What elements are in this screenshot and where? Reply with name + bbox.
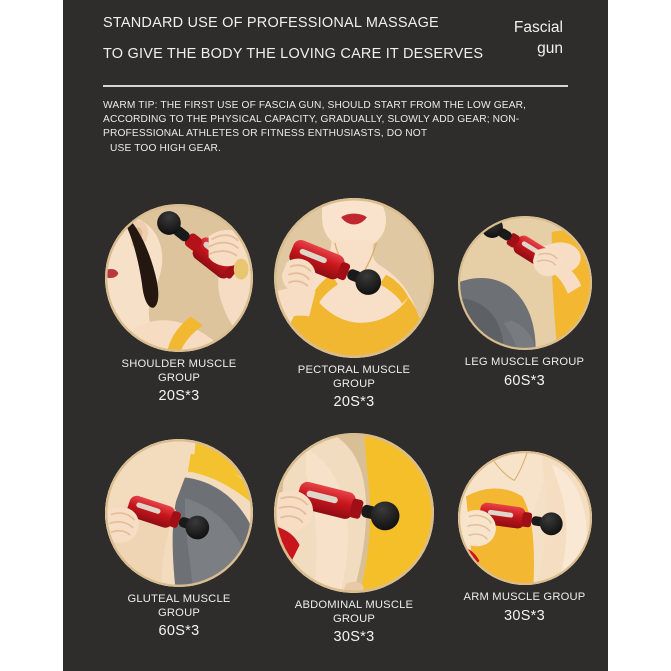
muscle-group-duration: 60S*3 bbox=[447, 372, 602, 390]
muscle-group-name-2: GROUP bbox=[91, 372, 267, 386]
warm-tip-line-1: WARM TIP: THE FIRST USE OF FASCIA GUN, S… bbox=[103, 99, 563, 113]
warm-tip-line-2: ACCORDING TO THE PHYSICAL CAPACITY, GRAD… bbox=[103, 113, 563, 127]
muscle-group-duration: 30S*3 bbox=[447, 607, 602, 625]
shoulder-massage-photo bbox=[105, 204, 253, 352]
page-title: STANDARD USE OF PROFESSIONAL MASSAGE TO … bbox=[103, 8, 503, 70]
muscle-group-caption: ARM MUSCLE GROUP bbox=[447, 591, 602, 605]
leg-massage-photo bbox=[458, 216, 592, 350]
pectoral-massage-photo bbox=[274, 198, 434, 358]
product-infographic-poster: STANDARD USE OF PROFESSIONAL MASSAGE TO … bbox=[63, 0, 608, 671]
arm-massage-illustration bbox=[458, 451, 592, 585]
muscle-group-name: SHOULDER MUSCLE bbox=[91, 358, 267, 372]
muscle-group-name: GLUTEAL MUSCLE bbox=[91, 593, 267, 607]
brand-line-2: gun bbox=[495, 38, 563, 59]
muscle-group-caption: SHOULDER MUSCLE GROUP bbox=[91, 358, 267, 385]
warm-tip-line-3: PROFESSIONAL ATHLETES OR FITNESS ENTHUSI… bbox=[103, 127, 563, 141]
muscle-group-card-abdominal[interactable]: ABDOMINAL MUSCLE GROUP 30S*3 bbox=[259, 433, 449, 646]
muscle-group-caption: ABDOMINAL MUSCLE GROUP bbox=[259, 599, 449, 626]
muscle-group-name-2: GROUP bbox=[259, 613, 449, 627]
header-divider bbox=[103, 85, 568, 87]
muscle-group-grid: SHOULDER MUSCLE GROUP 20S*3 bbox=[63, 198, 608, 668]
shoulder-massage-illustration bbox=[105, 204, 253, 352]
gluteal-massage-photo bbox=[105, 439, 253, 587]
brand-label: Fascial gun bbox=[495, 17, 603, 59]
muscle-group-card-pectoral[interactable]: PECTORAL MUSCLE GROUP 20S*3 bbox=[259, 198, 449, 411]
abdominal-massage-photo bbox=[274, 433, 434, 593]
muscle-group-duration: 60S*3 bbox=[91, 622, 267, 640]
muscle-group-duration: 20S*3 bbox=[259, 393, 449, 411]
warm-tip-line-4: USE TOO HIGH GEAR. bbox=[103, 142, 563, 156]
muscle-group-name-2: GROUP bbox=[91, 607, 267, 621]
muscle-group-caption: LEG MUSCLE GROUP bbox=[447, 356, 602, 370]
muscle-group-duration: 30S*3 bbox=[259, 628, 449, 646]
brand-line-1: Fascial bbox=[495, 17, 563, 38]
muscle-group-caption: PECTORAL MUSCLE GROUP bbox=[259, 364, 449, 391]
muscle-group-card-leg[interactable]: LEG MUSCLE GROUP 60S*3 bbox=[447, 216, 602, 390]
muscle-group-name-2: GROUP bbox=[259, 378, 449, 392]
poster-header: STANDARD USE OF PROFESSIONAL MASSAGE TO … bbox=[63, 0, 608, 80]
muscle-group-duration: 20S*3 bbox=[91, 387, 267, 405]
abdominal-massage-illustration bbox=[274, 433, 434, 593]
grid-row: GLUTEAL MUSCLE GROUP 60S*3 bbox=[63, 433, 608, 668]
headline-line-1: STANDARD USE OF PROFESSIONAL MASSAGE bbox=[103, 8, 503, 39]
arm-massage-photo bbox=[458, 451, 592, 585]
warm-tip-text: WARM TIP: THE FIRST USE OF FASCIA GUN, S… bbox=[103, 99, 563, 156]
muscle-group-name: ARM MUSCLE GROUP bbox=[447, 591, 602, 605]
pectoral-massage-illustration bbox=[274, 198, 434, 358]
grid-row: SHOULDER MUSCLE GROUP 20S*3 bbox=[63, 198, 608, 433]
gluteal-massage-illustration bbox=[105, 439, 253, 587]
muscle-group-card-arm[interactable]: ARM MUSCLE GROUP 30S*3 bbox=[447, 451, 602, 625]
muscle-group-card-gluteal[interactable]: GLUTEAL MUSCLE GROUP 60S*3 bbox=[91, 439, 267, 640]
leg-massage-illustration bbox=[458, 216, 592, 350]
muscle-group-card-shoulder[interactable]: SHOULDER MUSCLE GROUP 20S*3 bbox=[91, 204, 267, 405]
headline-line-2: TO GIVE THE BODY THE LOVING CARE IT DESE… bbox=[103, 39, 503, 70]
muscle-group-caption: GLUTEAL MUSCLE GROUP bbox=[91, 593, 267, 620]
muscle-group-name: LEG MUSCLE GROUP bbox=[447, 356, 602, 370]
muscle-group-name: PECTORAL MUSCLE bbox=[259, 364, 449, 378]
muscle-group-name: ABDOMINAL MUSCLE bbox=[259, 599, 449, 613]
